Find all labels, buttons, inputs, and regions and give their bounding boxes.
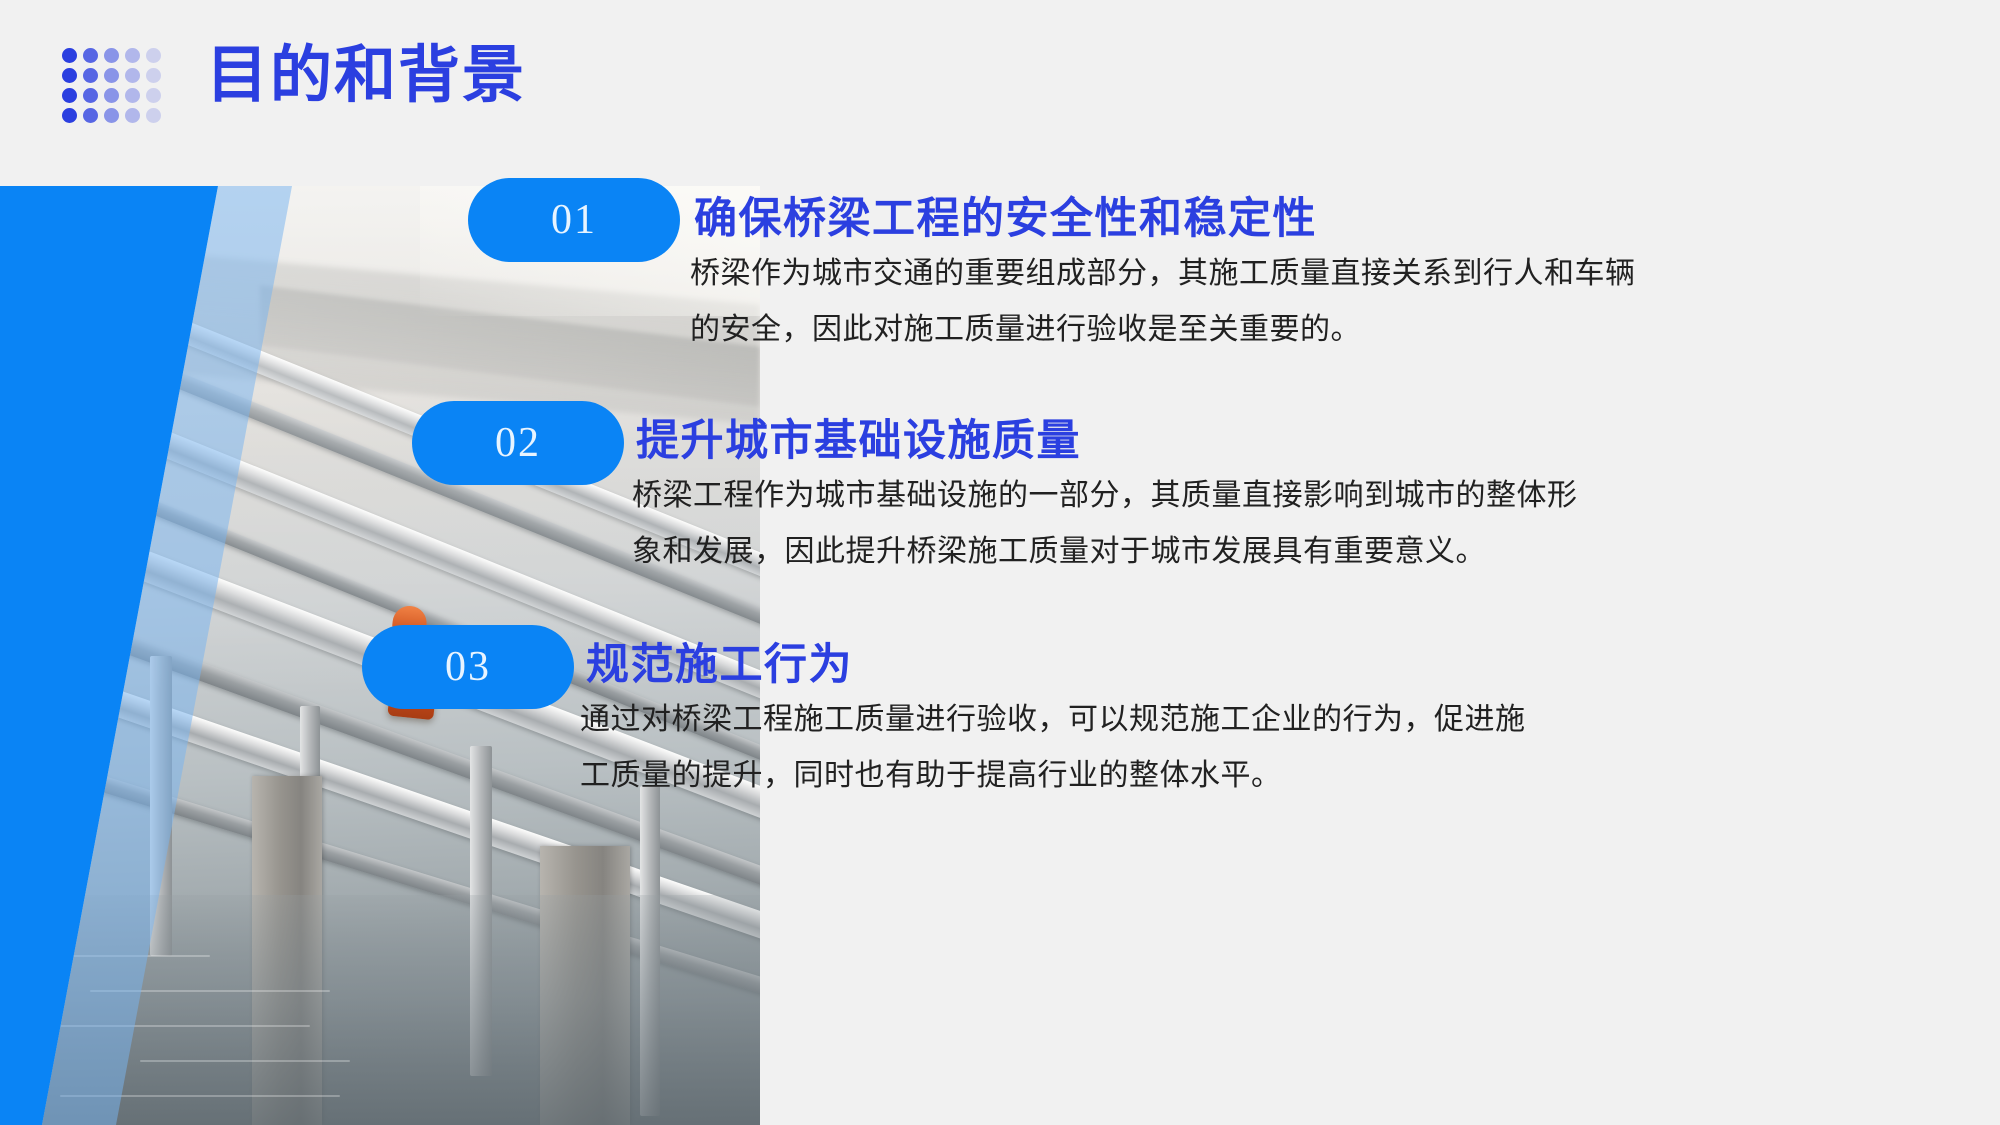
item-number-badge-02[interactable]: 02 (412, 401, 624, 485)
grid-dot (104, 88, 119, 103)
item-title-03: 规范施工行为 (586, 630, 853, 692)
grid-dot (62, 108, 77, 123)
grid-dot (146, 48, 161, 63)
item-title-01: 确保桥梁工程的安全性和稳定性 (694, 184, 1317, 246)
item-title-02: 提升城市基础设施质量 (636, 406, 1081, 468)
slide-root: 目的和背景 (0, 0, 2000, 1125)
grid-dot (104, 108, 119, 123)
grid-dot (83, 48, 98, 63)
grid-dot (62, 48, 77, 63)
grid-dot (104, 48, 119, 63)
page-title: 目的和背景 (206, 38, 526, 116)
grid-dot (146, 68, 161, 83)
grid-dot (146, 88, 161, 103)
item-body-line: 的安全，因此对施工质量进行验收是至关重要的。 (690, 302, 1636, 358)
item-body-03: 通过对桥梁工程施工质量进行验收，可以规范施工企业的行为，促进施 工质量的提升，同… (580, 692, 1526, 803)
item-body-line: 通过对桥梁工程施工质量进行验收，可以规范施工企业的行为，促进施 (580, 692, 1526, 748)
grid-dot (83, 68, 98, 83)
grid-dot (146, 108, 161, 123)
grid-dot (62, 68, 77, 83)
item-body-line: 桥梁作为城市交通的重要组成部分，其施工质量直接关系到行人和车辆 (690, 246, 1636, 302)
grid-dot (62, 88, 77, 103)
item-body-line: 桥梁工程作为城市基础设施的一部分，其质量直接影响到城市的整体形 (632, 468, 1578, 524)
grid-dot (125, 108, 140, 123)
grid-dot (125, 68, 140, 83)
grid-dot (104, 68, 119, 83)
item-body-01: 桥梁作为城市交通的重要组成部分，其施工质量直接关系到行人和车辆 的安全，因此对施… (690, 246, 1636, 357)
item-number-badge-03[interactable]: 03 (362, 625, 574, 709)
item-body-line: 工质量的提升，同时也有助于提高行业的整体水平。 (580, 748, 1526, 804)
grid-dot (83, 88, 98, 103)
item-body-02: 桥梁工程作为城市基础设施的一部分，其质量直接影响到城市的整体形 象和发展，因此提… (632, 468, 1578, 579)
slide-header: 目的和背景 (0, 0, 2000, 186)
grid-dot (125, 48, 140, 63)
decorative-dot-grid-icon (62, 48, 172, 132)
item-body-line: 象和发展，因此提升桥梁施工质量对于城市发展具有重要意义。 (632, 524, 1578, 580)
grid-dot (83, 108, 98, 123)
item-number-badge-01[interactable]: 01 (468, 178, 680, 262)
grid-dot (125, 88, 140, 103)
